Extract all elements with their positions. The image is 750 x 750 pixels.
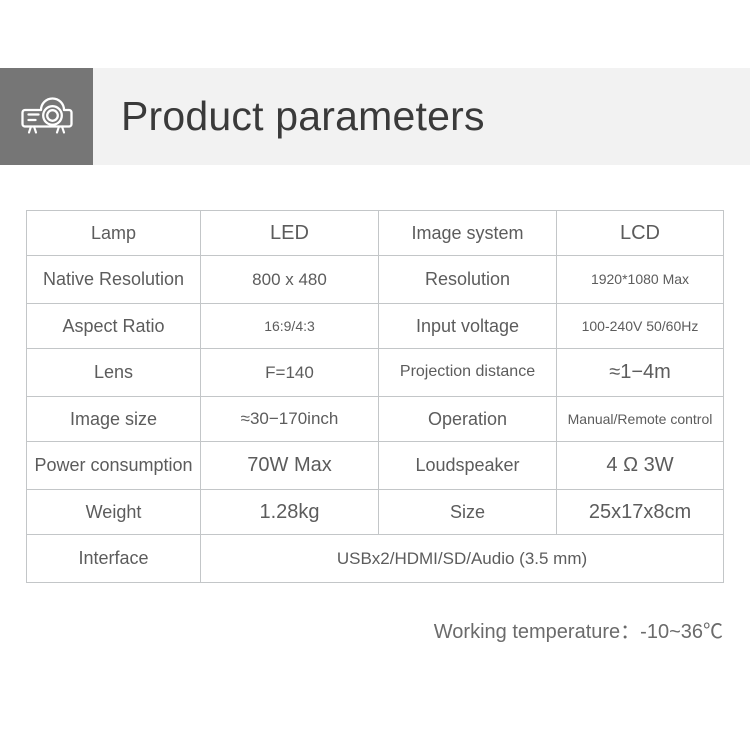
table-row: Lens F=140 Projection distance ≈1−4m (27, 349, 724, 397)
spec-value: ≈1−4m (557, 349, 724, 397)
spec-value: ≈30−170inch (201, 397, 379, 442)
spec-label: Power consumption (27, 442, 201, 490)
spec-label: Aspect Ratio (27, 304, 201, 349)
spec-label: Image size (27, 397, 201, 442)
page-title: Product parameters (93, 68, 750, 165)
spec-value: 100-240V 50/60Hz (557, 304, 724, 349)
table-row: Power consumption 70W Max Loudspeaker 4 … (27, 442, 724, 490)
spec-value: F=140 (201, 349, 379, 397)
spec-value: 16:9/4:3 (201, 304, 379, 349)
spec-label: Weight (27, 490, 201, 535)
product-parameters-table: Lamp LED Image system LCD Native Resolut… (26, 210, 724, 583)
page-header: Product parameters (0, 68, 750, 165)
spec-value: 4 Ω 3W (557, 442, 724, 490)
table-row: Weight 1.28kg Size 25x17x8cm (27, 490, 724, 535)
working-temperature-note: Working temperature：-10~36℃ (0, 615, 723, 644)
spec-label: Operation (379, 397, 557, 442)
spec-label: Projection distance (379, 349, 557, 397)
spec-value: USBx2/HDMI/SD/Audio (3.5 mm) (201, 535, 724, 583)
spec-label: Loudspeaker (379, 442, 557, 490)
spec-label: Size (379, 490, 557, 535)
spec-value: LED (201, 211, 379, 256)
spec-label: Native Resolution (27, 256, 201, 304)
spec-label: Image system (379, 211, 557, 256)
table-row: Lamp LED Image system LCD (27, 211, 724, 256)
spec-value: Manual/Remote control (557, 397, 724, 442)
table-row: Image size ≈30−170inch Operation Manual/… (27, 397, 724, 442)
spec-value: LCD (557, 211, 724, 256)
spec-value: 25x17x8cm (557, 490, 724, 535)
table-row-interface: Interface USBx2/HDMI/SD/Audio (3.5 mm) (27, 535, 724, 583)
spec-label: Input voltage (379, 304, 557, 349)
spec-value: 800 x 480 (201, 256, 379, 304)
table-row: Native Resolution 800 x 480 Resolution 1… (27, 256, 724, 304)
table-row: Aspect Ratio 16:9/4:3 Input voltage 100-… (27, 304, 724, 349)
spec-label: Resolution (379, 256, 557, 304)
spec-label: Interface (27, 535, 201, 583)
projector-icon (21, 97, 73, 137)
spec-value: 70W Max (201, 442, 379, 490)
spec-label: Lens (27, 349, 201, 397)
header-icon-block (0, 68, 93, 165)
spec-value: 1.28kg (201, 490, 379, 535)
spec-value: 1920*1080 Max (557, 256, 724, 304)
spec-label: Lamp (27, 211, 201, 256)
